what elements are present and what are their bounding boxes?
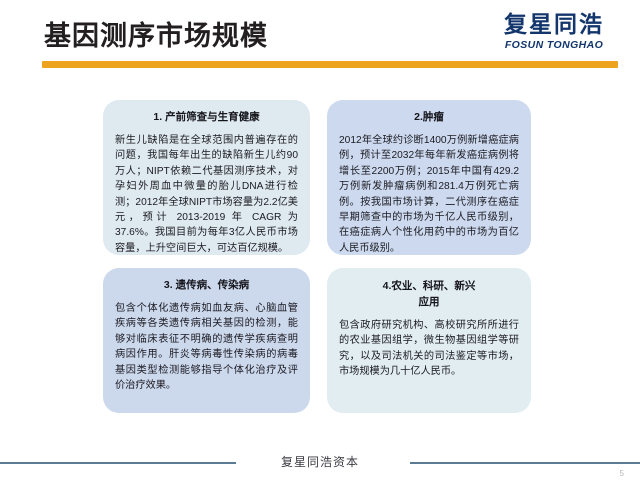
page-number: 5 — [620, 469, 624, 478]
logo-english-text: FOSUN TONGHAO — [486, 40, 622, 51]
card-agriculture-research-emerging: 4.农业、科研、新兴 应用 包含政府研究机构、高校研究所所进行的农业基因组学，微… — [327, 268, 531, 413]
logo-chinese-text: 复星同浩 — [486, 14, 622, 37]
slide-footer: 复星同浩资本 5 — [0, 450, 640, 480]
card-tumor: 2.肿瘤 2012年全球约诊断1400万例新增癌症病例，预计至2032年每年新发… — [327, 100, 531, 255]
card-prenatal-screening: 1. 产前筛查与生育健康 新生儿缺陷是在全球范围内普遍存在的问题，我国每年出生的… — [103, 100, 310, 255]
fosun-tonghao-logo: 复星同浩 FOSUN TONGHAO — [486, 14, 622, 51]
content-grid: 1. 产前筛查与生育健康 新生儿缺陷是在全球范围内普遍存在的问题，我国每年出生的… — [103, 100, 531, 415]
footer-brand-label: 复星同浩资本 — [0, 453, 640, 470]
card-body: 包含个体化遗传病如血友病、心脑血管疾病等各类遗传病相关基因的检测，能够对临床表征… — [115, 301, 298, 393]
card-title: 2.肿瘤 — [339, 110, 519, 125]
card-title: 4.农业、科研、新兴 应用 — [339, 278, 519, 310]
slide-header: 基因测序市场规模 复星同浩 FOSUN TONGHAO — [0, 0, 640, 80]
title-underline-bar — [42, 61, 618, 68]
card-genetic-infectious-disease: 3. 遗传病、传染病 包含个体化遗传病如血友病、心脑血管疾病等各类遗传病相关基因… — [103, 268, 310, 413]
page-title: 基因测序市场规模 — [44, 18, 268, 54]
card-body: 新生儿缺陷是在全球范围内普遍存在的问题，我国每年出生的缺陷新生儿约90万人；NI… — [115, 133, 298, 256]
card-title: 1. 产前筛查与生育健康 — [115, 110, 298, 125]
card-body: 包含政府研究机构、高校研究所所进行的农业基因组学，微生物基因组学等研究，以及司法… — [339, 318, 519, 380]
card-title: 3. 遗传病、传染病 — [115, 278, 298, 293]
slide: 基因测序市场规模 复星同浩 FOSUN TONGHAO 1. 产前筛查与生育健康… — [0, 0, 640, 480]
card-body: 2012年全球约诊断1400万例新增癌症病例，预计至2032年每年新发癌症病例将… — [339, 133, 519, 256]
